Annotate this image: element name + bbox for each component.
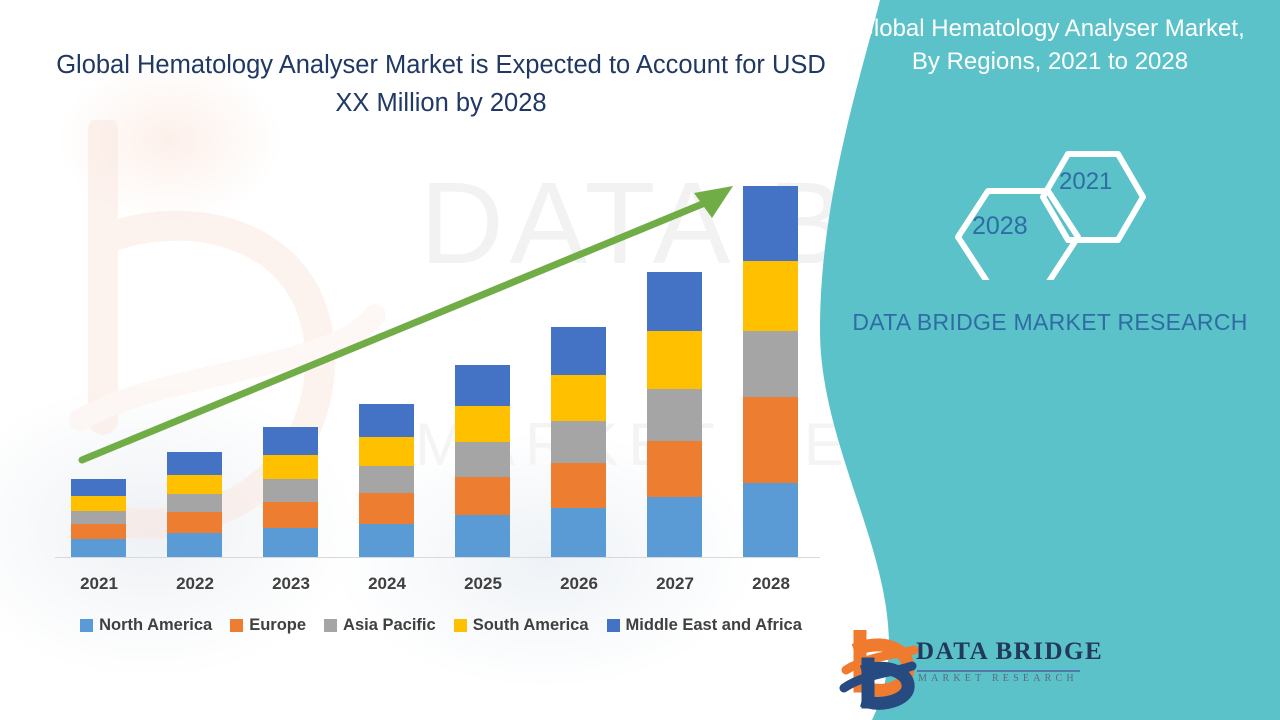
bar-segment	[167, 452, 222, 475]
legend-item[interactable]: Middle East and Africa	[607, 616, 802, 635]
legend-label: South America	[473, 616, 589, 635]
legend-swatch-icon	[454, 619, 467, 632]
bar-segment	[263, 528, 318, 557]
bar-segment	[647, 331, 702, 389]
bar-segment	[743, 397, 798, 483]
bar-segment	[455, 365, 510, 406]
legend-label: Asia Pacific	[343, 616, 436, 635]
legend-item[interactable]: Asia Pacific	[324, 616, 436, 635]
x-axis-label-2024: 2024	[342, 574, 432, 594]
bar-2026	[551, 327, 606, 557]
hexagon-label-2021: 2021	[1059, 168, 1112, 196]
bar-segment	[647, 389, 702, 441]
logo-text-sub: MARKET RESEARCH	[918, 673, 1078, 684]
bar-segment	[455, 477, 510, 515]
bar-segment	[71, 511, 126, 524]
bar-segment	[167, 494, 222, 512]
x-axis-label-2023: 2023	[246, 574, 336, 594]
logo-divider	[917, 670, 1080, 672]
brand-name: DATA BRIDGE MARKET RESEARCH	[850, 306, 1250, 338]
bar-segment	[455, 442, 510, 477]
bar-segment	[551, 375, 606, 421]
chart-legend: North AmericaEuropeAsia PacificSouth Ame…	[46, 616, 836, 635]
bar-segment	[551, 327, 606, 375]
panel-title: Global Hematology Analyser Market, By Re…	[840, 12, 1260, 78]
bar-segment	[551, 421, 606, 463]
right-info-panel: Global Hematology Analyser Market, By Re…	[820, 0, 1280, 720]
bar-segment	[647, 272, 702, 331]
legend-swatch-icon	[80, 619, 93, 632]
bar-segment	[359, 524, 414, 557]
bar-segment	[71, 524, 126, 539]
x-axis-label-2026: 2026	[534, 574, 624, 594]
bar-segment	[167, 512, 222, 533]
legend-swatch-icon	[607, 619, 620, 632]
bar-segment	[263, 479, 318, 502]
bar-segment	[71, 539, 126, 557]
bar-segment	[743, 186, 798, 261]
hexagon-year-badges: 2021 2028	[950, 150, 1160, 280]
bar-2023	[263, 427, 318, 557]
legend-item[interactable]: North America	[80, 616, 212, 635]
bar-segment	[455, 515, 510, 557]
stacked-bar-chart: 20212022202320242025202620272028	[0, 0, 900, 720]
legend-label: North America	[99, 616, 212, 635]
bar-2027	[647, 272, 702, 557]
bar-segment	[359, 437, 414, 466]
legend-swatch-icon	[230, 619, 243, 632]
chart-panel: DATA BRIDGE MARKET RESEARCH Global Hemat…	[0, 0, 900, 720]
bar-segment	[359, 493, 414, 524]
bar-2028	[743, 186, 798, 557]
x-axis-label-2025: 2025	[438, 574, 528, 594]
bar-2025	[455, 365, 510, 557]
bar-segment	[359, 404, 414, 437]
bar-segment	[167, 533, 222, 557]
bar-segment	[647, 497, 702, 557]
bar-2021	[71, 479, 126, 557]
x-axis-label-2027: 2027	[630, 574, 720, 594]
bar-2022	[167, 452, 222, 557]
bar-segment	[359, 466, 414, 493]
logo-text-main: DATA BRIDGE	[916, 638, 1103, 666]
bar-segment	[743, 261, 798, 331]
bar-segment	[263, 455, 318, 479]
bar-segment	[551, 463, 606, 508]
company-logo: DATA BRIDGE MARKET RESEARCH	[838, 630, 1108, 710]
legend-label: Middle East and Africa	[626, 616, 802, 635]
bar-segment	[71, 496, 126, 511]
bar-2024	[359, 404, 414, 557]
legend-item[interactable]: Europe	[230, 616, 306, 635]
bar-segment	[263, 502, 318, 528]
legend-swatch-icon	[324, 619, 337, 632]
bar-segment	[71, 479, 126, 496]
hexagon-label-2028: 2028	[972, 212, 1028, 241]
bar-segment	[743, 483, 798, 557]
x-axis-label-2021: 2021	[54, 574, 144, 594]
x-axis-line	[55, 557, 820, 558]
legend-item[interactable]: South America	[454, 616, 589, 635]
bar-segment	[263, 427, 318, 455]
bar-segment	[647, 441, 702, 497]
bar-segment	[455, 406, 510, 442]
x-axis-label-2028: 2028	[726, 574, 816, 594]
x-axis-label-2022: 2022	[150, 574, 240, 594]
teal-background-shape	[820, 0, 1280, 720]
bar-segment	[167, 475, 222, 494]
legend-label: Europe	[249, 616, 306, 635]
bar-segment	[743, 331, 798, 397]
bar-segment	[551, 508, 606, 557]
